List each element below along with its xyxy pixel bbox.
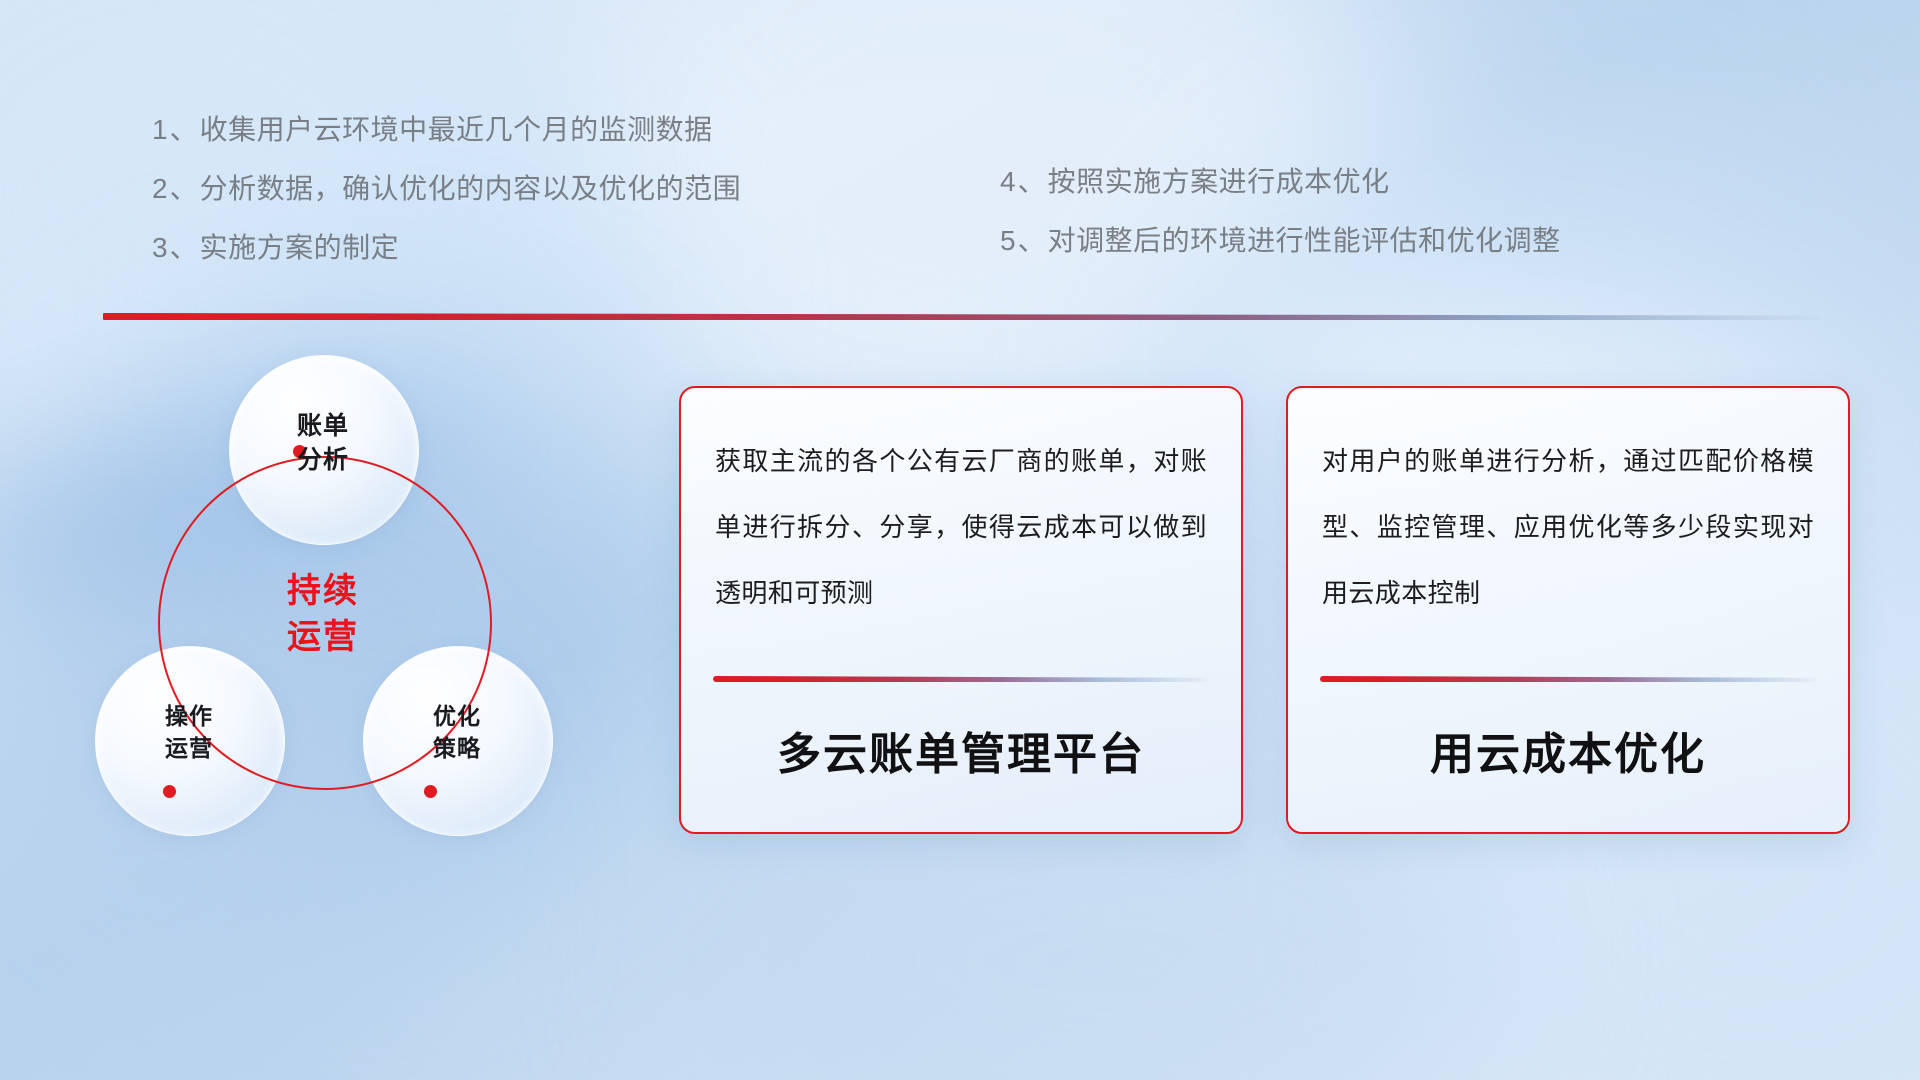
venn-diagram: 账单 分析 操作 运营 优化 策略 持续 运营: [95, 355, 585, 915]
step-item: 1、收集用户云环境中最近几个月的监测数据: [152, 100, 741, 159]
card-body-text: 获取主流的各个公有云厂商的账单，对账单进行拆分、分享，使得云成本可以做到透明和可…: [715, 428, 1207, 626]
info-card-cloud-cost-optimization[interactable]: 对用户的账单进行分析，通过匹配价格模型、监控管理、应用优化等多少段实现对用云成本…: [1286, 386, 1850, 834]
step-item: 4、按照实施方案进行成本优化: [1000, 152, 1561, 211]
step-item: 3、实施方案的制定: [152, 218, 741, 277]
step-number: 5、: [1000, 225, 1048, 256]
diagram-node-dot: [424, 785, 437, 798]
step-text: 实施方案的制定: [200, 232, 400, 263]
step-item: 2、分析数据，确认优化的内容以及优化的范围: [152, 159, 741, 218]
card-divider: [1320, 676, 1816, 682]
step-item: 5、对调整后的环境进行性能评估和优化调整: [1000, 211, 1561, 270]
diagram-node-dot: [163, 785, 176, 798]
step-number: 4、: [1000, 166, 1048, 197]
step-number: 3、: [152, 232, 200, 263]
card-body-text: 对用户的账单进行分析，通过匹配价格模型、监控管理、应用优化等多少段实现对用云成本…: [1322, 428, 1814, 626]
diagram-label-billing-analysis: 账单 分析: [229, 409, 417, 477]
diagram-label-center: 持续 运营: [229, 568, 417, 660]
card-divider: [713, 676, 1209, 682]
card-title: 多云账单管理平台: [681, 718, 1241, 782]
step-text: 按照实施方案进行成本优化: [1048, 166, 1390, 197]
card-title: 用云成本优化: [1288, 718, 1848, 782]
diagram-label-optimization-strategy: 优化 策略: [363, 700, 551, 764]
step-number: 1、: [152, 114, 200, 145]
step-number: 2、: [152, 173, 200, 204]
steps-column-right: 4、按照实施方案进行成本优化 5、对调整后的环境进行性能评估和优化调整: [1000, 152, 1561, 270]
step-text: 收集用户云环境中最近几个月的监测数据: [200, 114, 713, 145]
step-text: 对调整后的环境进行性能评估和优化调整: [1048, 225, 1561, 256]
step-text: 分析数据，确认优化的内容以及优化的范围: [200, 173, 742, 204]
diagram-label-operations: 操作 运营: [95, 700, 283, 764]
info-card-multi-cloud-billing-platform[interactable]: 获取主流的各个公有云厂商的账单，对账单进行拆分、分享，使得云成本可以做到透明和可…: [679, 386, 1243, 834]
steps-section: 1、收集用户云环境中最近几个月的监测数据 2、分析数据，确认优化的内容以及优化的…: [0, 0, 1920, 250]
steps-column-left: 1、收集用户云环境中最近几个月的监测数据 2、分析数据，确认优化的内容以及优化的…: [152, 100, 741, 277]
